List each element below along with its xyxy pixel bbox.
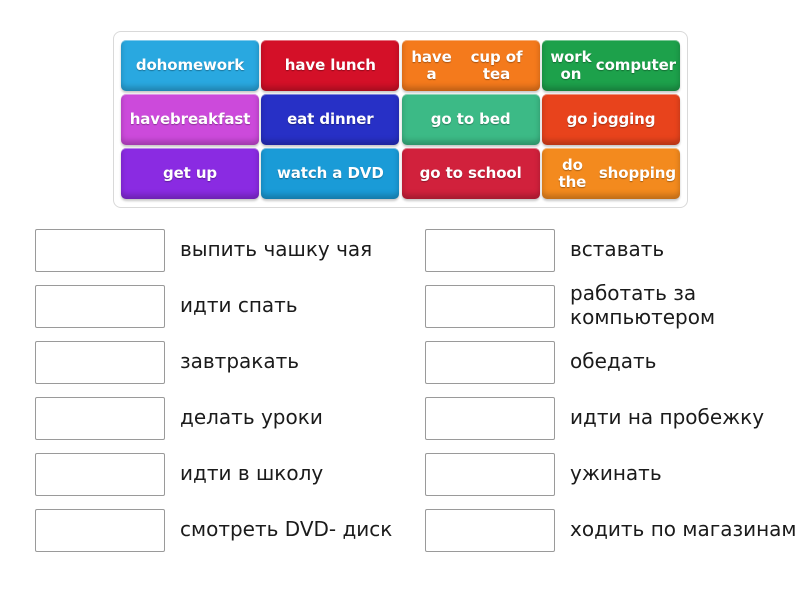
answer-label: ужинать xyxy=(570,462,662,486)
answer-row: ужинать xyxy=(425,446,800,502)
answer-label: ходить по магазинам xyxy=(570,518,797,542)
answer-row: идти в школу xyxy=(35,446,410,502)
answer-row: вставать xyxy=(425,222,800,278)
drop-box[interactable] xyxy=(425,397,555,440)
word-bank-tray: dohomework have lunch have acup of tea w… xyxy=(113,31,688,208)
word-tile[interactable]: do theshopping xyxy=(542,148,680,199)
drop-box[interactable] xyxy=(425,509,555,552)
drop-box[interactable] xyxy=(425,285,555,328)
drop-box[interactable] xyxy=(35,229,165,272)
answer-column-right: вставать работать за компьютером обедать… xyxy=(410,222,800,558)
answer-label: завтракать xyxy=(180,350,299,374)
tile-row: get up watch a DVD go to school do thesh… xyxy=(121,148,680,199)
answer-label: обедать xyxy=(570,350,656,374)
drop-box[interactable] xyxy=(35,453,165,496)
word-tile[interactable]: go to school xyxy=(402,148,540,199)
drop-box[interactable] xyxy=(425,341,555,384)
tile-row: havebreakfast eat dinner go to bed go jo… xyxy=(121,94,680,145)
drop-box[interactable] xyxy=(35,285,165,328)
answer-label: выпить чашку чая xyxy=(180,238,372,262)
answer-row: обедать xyxy=(425,334,800,390)
answer-row: выпить чашку чая xyxy=(35,222,410,278)
answer-area: выпить чашку чая идти спать завтракать д… xyxy=(0,222,800,558)
answer-label: смотреть DVD- диск xyxy=(180,518,392,542)
answer-row: работать за компьютером xyxy=(425,278,800,334)
answer-label: вставать xyxy=(570,238,664,262)
answer-row: идти спать xyxy=(35,278,410,334)
drop-box[interactable] xyxy=(35,397,165,440)
word-tile[interactable]: work oncomputer xyxy=(542,40,680,91)
answer-label: идти в школу xyxy=(180,462,323,486)
answer-label: идти спать xyxy=(180,294,298,318)
drop-box[interactable] xyxy=(425,453,555,496)
drop-box[interactable] xyxy=(35,509,165,552)
answer-row: ходить по магазинам xyxy=(425,502,800,558)
word-tile[interactable]: eat dinner xyxy=(261,94,399,145)
word-tile[interactable]: get up xyxy=(121,148,259,199)
word-tile[interactable]: dohomework xyxy=(121,40,259,91)
answer-row: смотреть DVD- диск xyxy=(35,502,410,558)
answer-row: идти на пробежку xyxy=(425,390,800,446)
word-tile[interactable]: have acup of tea xyxy=(402,40,540,91)
tile-row: dohomework have lunch have acup of tea w… xyxy=(121,40,680,91)
drop-box[interactable] xyxy=(425,229,555,272)
drop-box[interactable] xyxy=(35,341,165,384)
answer-column-left: выпить чашку чая идти спать завтракать д… xyxy=(0,222,410,558)
word-tile[interactable]: havebreakfast xyxy=(121,94,259,145)
answer-label: делать уроки xyxy=(180,406,323,430)
answer-label: работать за компьютером xyxy=(570,282,800,329)
word-tile[interactable]: go jogging xyxy=(542,94,680,145)
word-tile[interactable]: have lunch xyxy=(261,40,399,91)
word-tile[interactable]: watch a DVD xyxy=(261,148,399,199)
answer-row: завтракать xyxy=(35,334,410,390)
answer-label: идти на пробежку xyxy=(570,406,764,430)
word-tile[interactable]: go to bed xyxy=(402,94,540,145)
answer-row: делать уроки xyxy=(35,390,410,446)
